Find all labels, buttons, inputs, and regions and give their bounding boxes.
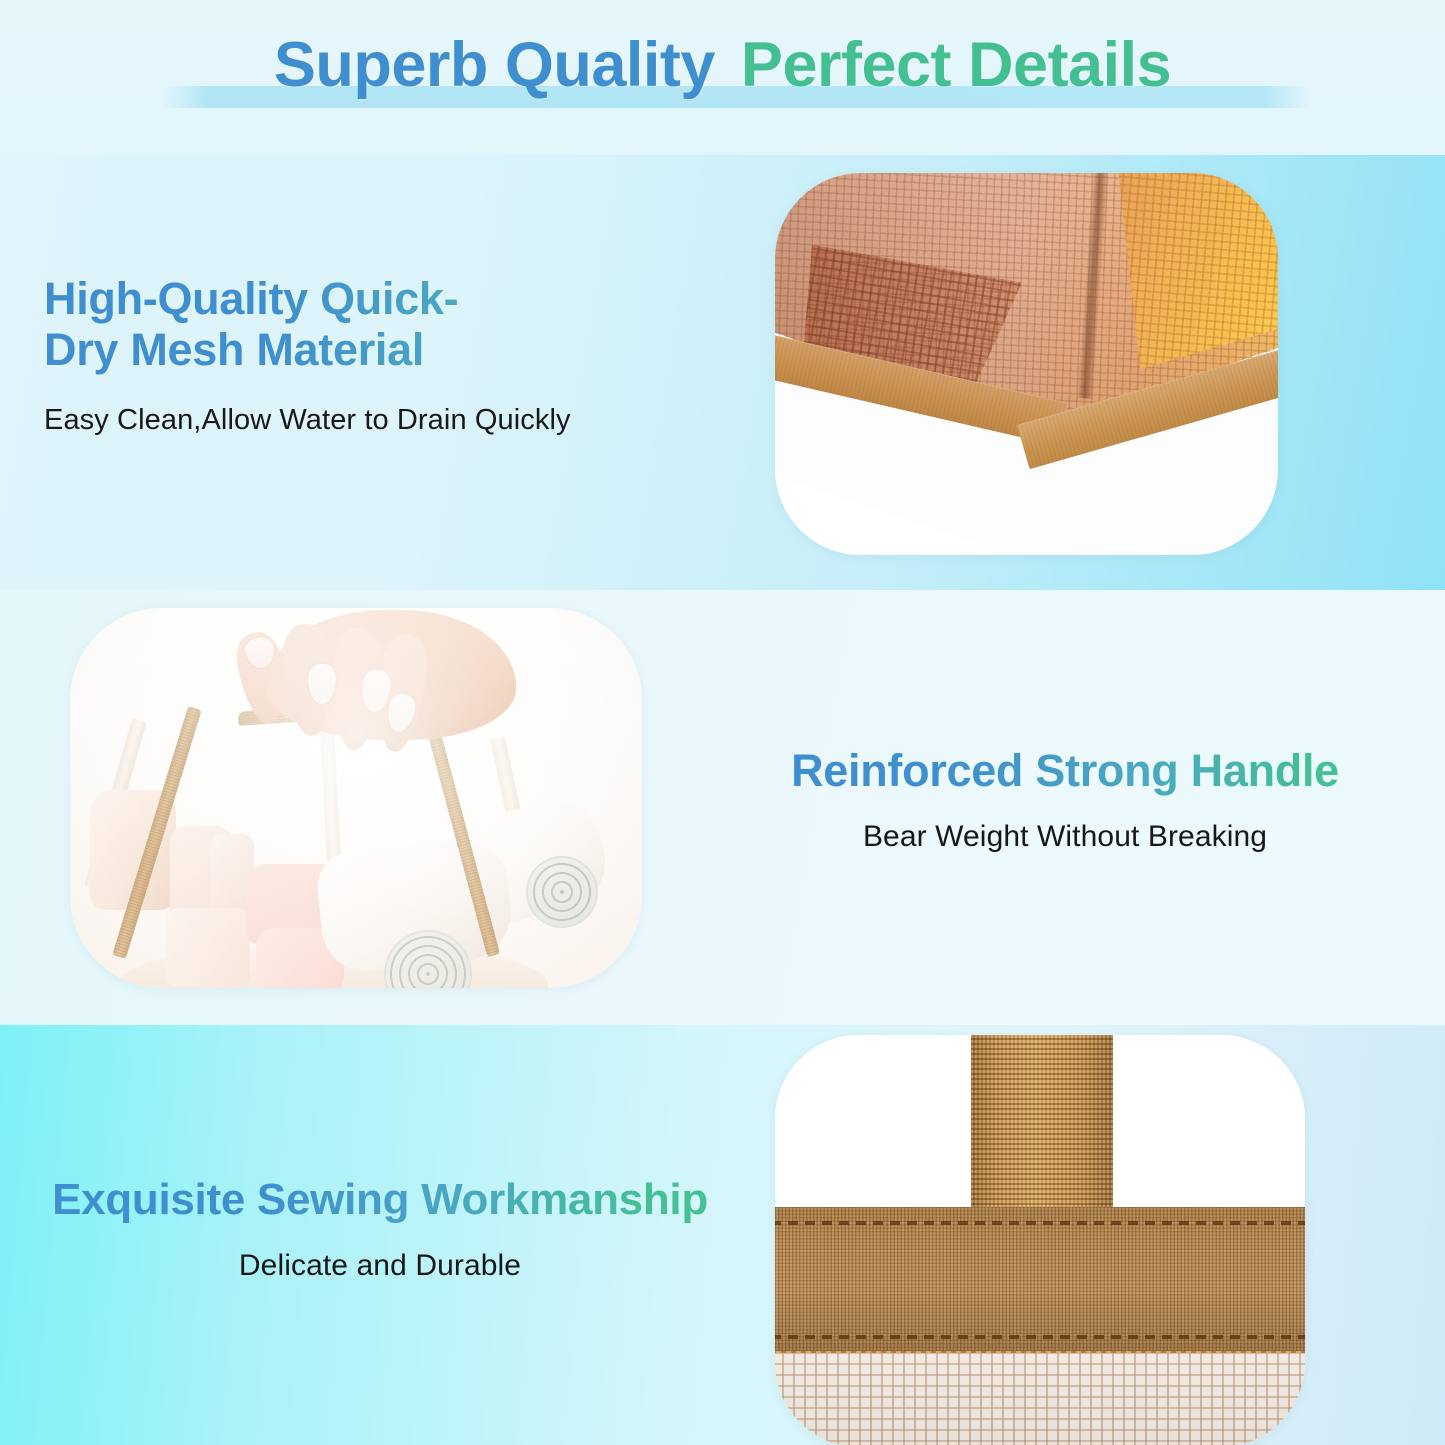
mesh-corner-photo-inner: [775, 173, 1278, 555]
mesh-panel-grid-texture: [775, 1353, 1305, 1445]
feature-subheading-3: Delicate and Durable: [10, 1249, 750, 1283]
feature-section-strong-handle: Reinforced Strong Handle Bear Weight Wit…: [0, 590, 1445, 1025]
feature-text-block-2: Reinforced Strong Handle Bear Weight Wit…: [700, 745, 1430, 854]
product-infographic-page: Superb QualityPerfect Details High-Quali…: [0, 0, 1445, 1445]
feature-section-mesh-material: High-Quality Quick- Dry Mesh Material Ea…: [0, 155, 1445, 590]
webbing-strap: [971, 1035, 1113, 1215]
feature-subheading-1: Easy Clean,Allow Water to Drain Quickly: [44, 404, 734, 437]
stitched-binding-photo-inner: [775, 1035, 1305, 1445]
feature-subheading-2: Bear Weight Without Breaking: [700, 820, 1430, 854]
feature-heading-3: Exquisite Sewing Workmanship: [10, 1175, 750, 1225]
title-green-text: Perfect Details: [741, 30, 1171, 100]
feature-heading-1: High-Quality Quick- Dry Mesh Material: [44, 273, 734, 376]
stitched-binding-photo: [775, 1035, 1305, 1445]
feature-text-block-1: High-Quality Quick- Dry Mesh Material Ea…: [44, 273, 734, 437]
binding-weave-texture: [775, 1207, 1305, 1355]
feature-heading-2: Reinforced Strong Handle: [700, 745, 1430, 796]
feature-text-block-3: Exquisite Sewing Workmanship Delicate an…: [10, 1175, 750, 1283]
stitch-line-bottom: [775, 1335, 1305, 1339]
stitch-line-top: [775, 1221, 1305, 1225]
hand-holding-caddy-photo: [70, 608, 642, 988]
webbing-weave-texture: [971, 1035, 1113, 1215]
toiletry-jar: [166, 908, 250, 986]
feature-section-sewing-workmanship: Exquisite Sewing Workmanship Delicate an…: [0, 1025, 1445, 1445]
page-title: Superb QualityPerfect Details: [0, 34, 1445, 97]
hand-holding-caddy-photo-inner: [70, 608, 642, 988]
mesh-panel: [775, 1353, 1305, 1445]
page-header: Superb QualityPerfect Details: [0, 0, 1445, 155]
binding-tape-band: [775, 1207, 1305, 1355]
hair-dryer-back-vent: [526, 856, 598, 928]
mesh-corner-photo: [775, 173, 1278, 555]
title-blue-text: Superb Quality: [274, 30, 715, 100]
